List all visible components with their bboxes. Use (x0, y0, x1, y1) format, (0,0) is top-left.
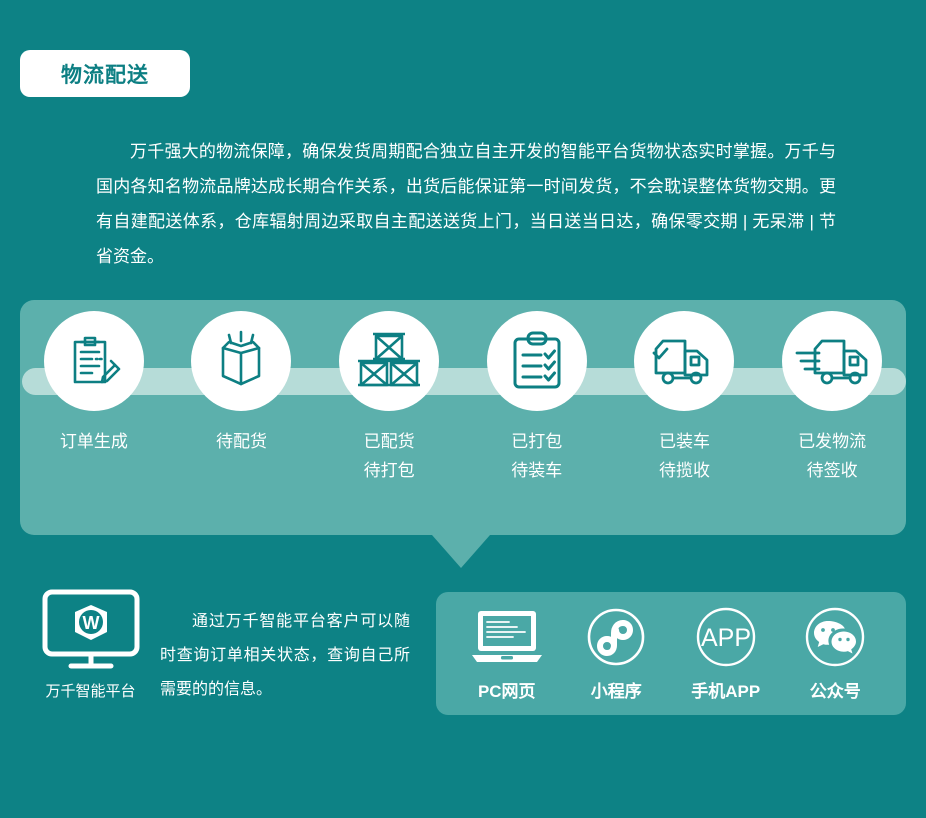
channel-icon-wrap (586, 606, 646, 668)
step-icon-circle (44, 311, 144, 411)
step-label: 已打包 待装车 (511, 427, 562, 485)
channel-pc-web[interactable]: PC网页 (455, 606, 559, 702)
platform-label: 万千智能平台 (45, 680, 135, 701)
step-label: 已装车 待揽收 (659, 427, 710, 485)
app-circle-icon: APP (695, 606, 757, 668)
platform-block: W 万千智能平台 (38, 588, 143, 701)
steps-row: 订单生成 待配货 (20, 300, 906, 535)
step-label: 已配货 待打包 (364, 427, 415, 485)
step-icon-circle (191, 311, 291, 411)
wechat-bubbles-icon (804, 606, 866, 668)
channel-icon-wrap (470, 606, 544, 668)
monitor-w-logo-icon: W (41, 588, 141, 670)
step-label: 订单生成 (60, 427, 128, 456)
step-packed-awaiting-loading[interactable]: 已打包 待装车 (467, 311, 607, 485)
channel-icon-wrap (804, 606, 866, 668)
open-box-icon (209, 329, 273, 393)
channel-icon-wrap: APP (695, 606, 757, 668)
channel-label: 手机APP (691, 677, 760, 702)
step-picked-awaiting-packing[interactable]: 已配货 待打包 (319, 311, 459, 485)
channel-mobile-app[interactable]: APP 手机APP (674, 606, 778, 702)
truck-moving-icon (795, 335, 869, 387)
step-icon-circle (782, 311, 882, 411)
down-arrow-icon (432, 535, 490, 568)
step-order-created[interactable]: 订单生成 (24, 311, 164, 456)
channels-panel: PC网页 小程序 APP 手机APP (436, 592, 906, 715)
app-circle-text: APP (701, 624, 751, 652)
channel-mini-program[interactable]: 小程序 (564, 606, 668, 702)
section-title-badge: 物流配送 (20, 50, 190, 97)
channel-label: PC网页 (478, 677, 536, 702)
channel-label: 小程序 (591, 677, 642, 702)
platform-description: 通过万千智能平台客户可以随时查询订单相关状态，查询自己所需要的的信息。 (160, 605, 410, 707)
channel-label: 公众号 (810, 677, 861, 702)
truck-check-icon (650, 335, 718, 387)
svg-text:W: W (82, 613, 99, 633)
step-awaiting-picking[interactable]: 待配货 (171, 311, 311, 456)
checklist-clipboard-icon (508, 329, 566, 393)
logistics-steps-panel: 订单生成 待配货 (20, 300, 906, 535)
intro-paragraph: 万千强大的物流保障，确保发货周期配合独立自主开发的智能平台货物状态实时掌握。万千… (96, 134, 836, 274)
step-icon-circle (634, 311, 734, 411)
stacked-crates-icon (356, 331, 422, 391)
laptop-icon (470, 609, 544, 665)
step-shipped-awaiting-signoff[interactable]: 已发物流 待签收 (762, 311, 902, 485)
step-icon-circle (487, 311, 587, 411)
step-label: 待配货 (216, 427, 267, 456)
page-title: 物流配送 (61, 59, 149, 89)
channel-official-account[interactable]: 公众号 (783, 606, 887, 702)
clipboard-pencil-icon (63, 330, 125, 392)
step-icon-circle (339, 311, 439, 411)
step-label: 已发物流 待签收 (798, 427, 866, 485)
mini-program-icon (586, 607, 646, 667)
step-loaded-awaiting-pickup[interactable]: 已装车 待揽收 (614, 311, 754, 485)
